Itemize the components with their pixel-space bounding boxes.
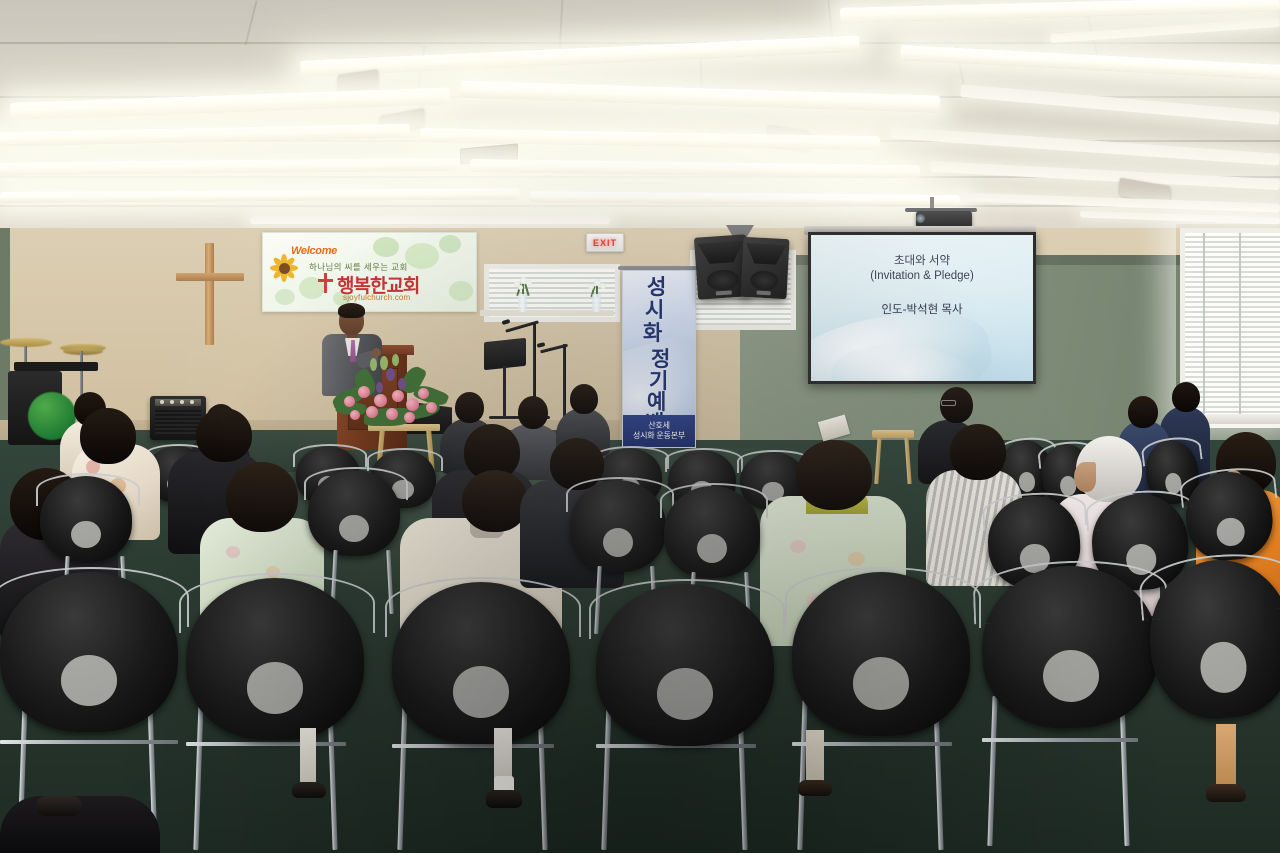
ceiling-light-row — [250, 216, 610, 224]
attendee-head — [196, 408, 252, 462]
attendee-shoe — [292, 782, 326, 798]
empty-chair[interactable] — [0, 572, 178, 732]
lily-vase — [513, 272, 533, 312]
vbanner-char: 정 — [651, 349, 670, 370]
sunflower-graphic — [269, 253, 299, 283]
welcome-banner: Welcome 하나님의 씨를 세우는 교회 행복한교회 sjoyfulchur… — [262, 232, 477, 312]
vbanner-footer: 산호세 성시화 운동본부 — [623, 415, 695, 447]
ceiling-light-row — [900, 45, 1280, 80]
vertical-banner: 성 시 화 정 기 예 배 산호세 성시화 운동본부 — [622, 270, 696, 448]
attendee-head — [518, 396, 548, 429]
floral-pattern — [848, 552, 865, 566]
amplifier-grill — [155, 408, 201, 436]
ceiling-light-row — [840, 0, 1280, 23]
attendee-shoe — [486, 790, 522, 808]
preacher-hair — [338, 303, 365, 318]
vbanner-char: 화 — [643, 323, 662, 344]
wooden-stool — [872, 430, 914, 438]
projection-screen: 초대와 서약 (Invitation & Pledge) 인도-박석현 목사 — [808, 232, 1036, 384]
church-service-photo: Welcome 하나님의 씨를 세우는 교회 행복한교회 sjoyfulchur… — [0, 0, 1280, 853]
attendee-shoe — [1206, 784, 1246, 802]
attendee-face — [1074, 462, 1096, 492]
ceiling-light-row — [1080, 211, 1280, 225]
screen-surface: 초대와 서약 (Invitation & Pledge) 인도-박석현 목사 — [811, 235, 1033, 381]
drop-ceiling — [0, 0, 1280, 236]
slide-title-english: (Invitation & Pledge) — [811, 270, 1033, 282]
ceiling-light-row — [890, 126, 1280, 165]
slide-title-korean: 초대와 서약 — [811, 252, 1033, 268]
music-stand-pole — [503, 366, 506, 418]
banner-welcome-text: Welcome — [291, 245, 337, 257]
attendee-leg — [1216, 724, 1236, 790]
flower-arrangement — [330, 352, 450, 430]
ceiling-light-row — [0, 188, 520, 203]
banner-website: sjoyfulchurch.com — [343, 293, 410, 302]
floral-pattern — [790, 540, 806, 553]
attendee-leg — [806, 730, 824, 786]
vbanner-char: 기 — [649, 371, 668, 392]
vbanner-footer-line1: 산호세 — [648, 421, 669, 431]
projector-lens-icon — [916, 214, 925, 223]
cymbal — [63, 348, 103, 355]
attendee-head — [1172, 382, 1200, 412]
wooden-cross — [205, 243, 214, 345]
empty-chair[interactable] — [1182, 468, 1277, 565]
drum-rack — [14, 362, 98, 371]
exit-sign-label: EXIT — [593, 238, 617, 248]
cymbal-stand — [80, 351, 83, 395]
attendee-leg — [300, 728, 316, 786]
ceiling-light-row — [530, 191, 960, 206]
empty-chair[interactable] — [664, 486, 760, 578]
vbanner-char: 성 — [647, 277, 666, 298]
vbanner-footer-line2: 성시화 운동본부 — [633, 431, 685, 441]
attendee-shoe — [36, 796, 82, 816]
chair-crossbar — [392, 744, 554, 748]
ceiling-light-row — [1050, 18, 1280, 43]
attendee-shoe — [798, 780, 832, 796]
attendee-head — [455, 392, 484, 423]
empty-chair[interactable] — [792, 572, 970, 736]
attendee-head — [226, 462, 298, 532]
attendee-head — [570, 384, 598, 414]
empty-chair[interactable] — [40, 476, 132, 562]
empty-chair[interactable] — [1143, 554, 1280, 724]
music-stand-base — [489, 416, 521, 419]
eyeglasses-icon — [941, 400, 956, 406]
chair-crossbar — [0, 740, 178, 744]
ceiling-light-row — [960, 84, 1280, 125]
attendee-head — [796, 440, 872, 510]
slide-presenter: 인도-박석현 목사 — [811, 301, 1033, 317]
ceiling-light-row — [0, 158, 460, 176]
empty-chair[interactable] — [570, 480, 666, 572]
chair-crossbar — [982, 738, 1138, 742]
vbanner-char: 예 — [647, 392, 666, 413]
chair-crossbar — [186, 742, 346, 746]
microphone-stand — [563, 344, 566, 422]
attendee-head — [1128, 396, 1158, 428]
ceiling-light-row — [0, 123, 410, 146]
pa-speaker — [740, 237, 789, 299]
lily-vase — [587, 274, 607, 312]
attendee-head — [950, 424, 1006, 480]
attendee-head — [462, 470, 528, 532]
vbanner-char: 시 — [645, 300, 664, 321]
floral-pattern — [226, 546, 240, 558]
empty-chair[interactable] — [392, 582, 570, 744]
empty-chair[interactable] — [186, 578, 364, 740]
wooden-cross-arm — [176, 273, 244, 281]
empty-chair[interactable] — [596, 584, 774, 746]
exit-sign: EXIT — [586, 233, 624, 252]
attendee-head — [80, 408, 136, 464]
empty-chair[interactable] — [979, 563, 1161, 731]
empty-chair[interactable] — [308, 470, 400, 556]
